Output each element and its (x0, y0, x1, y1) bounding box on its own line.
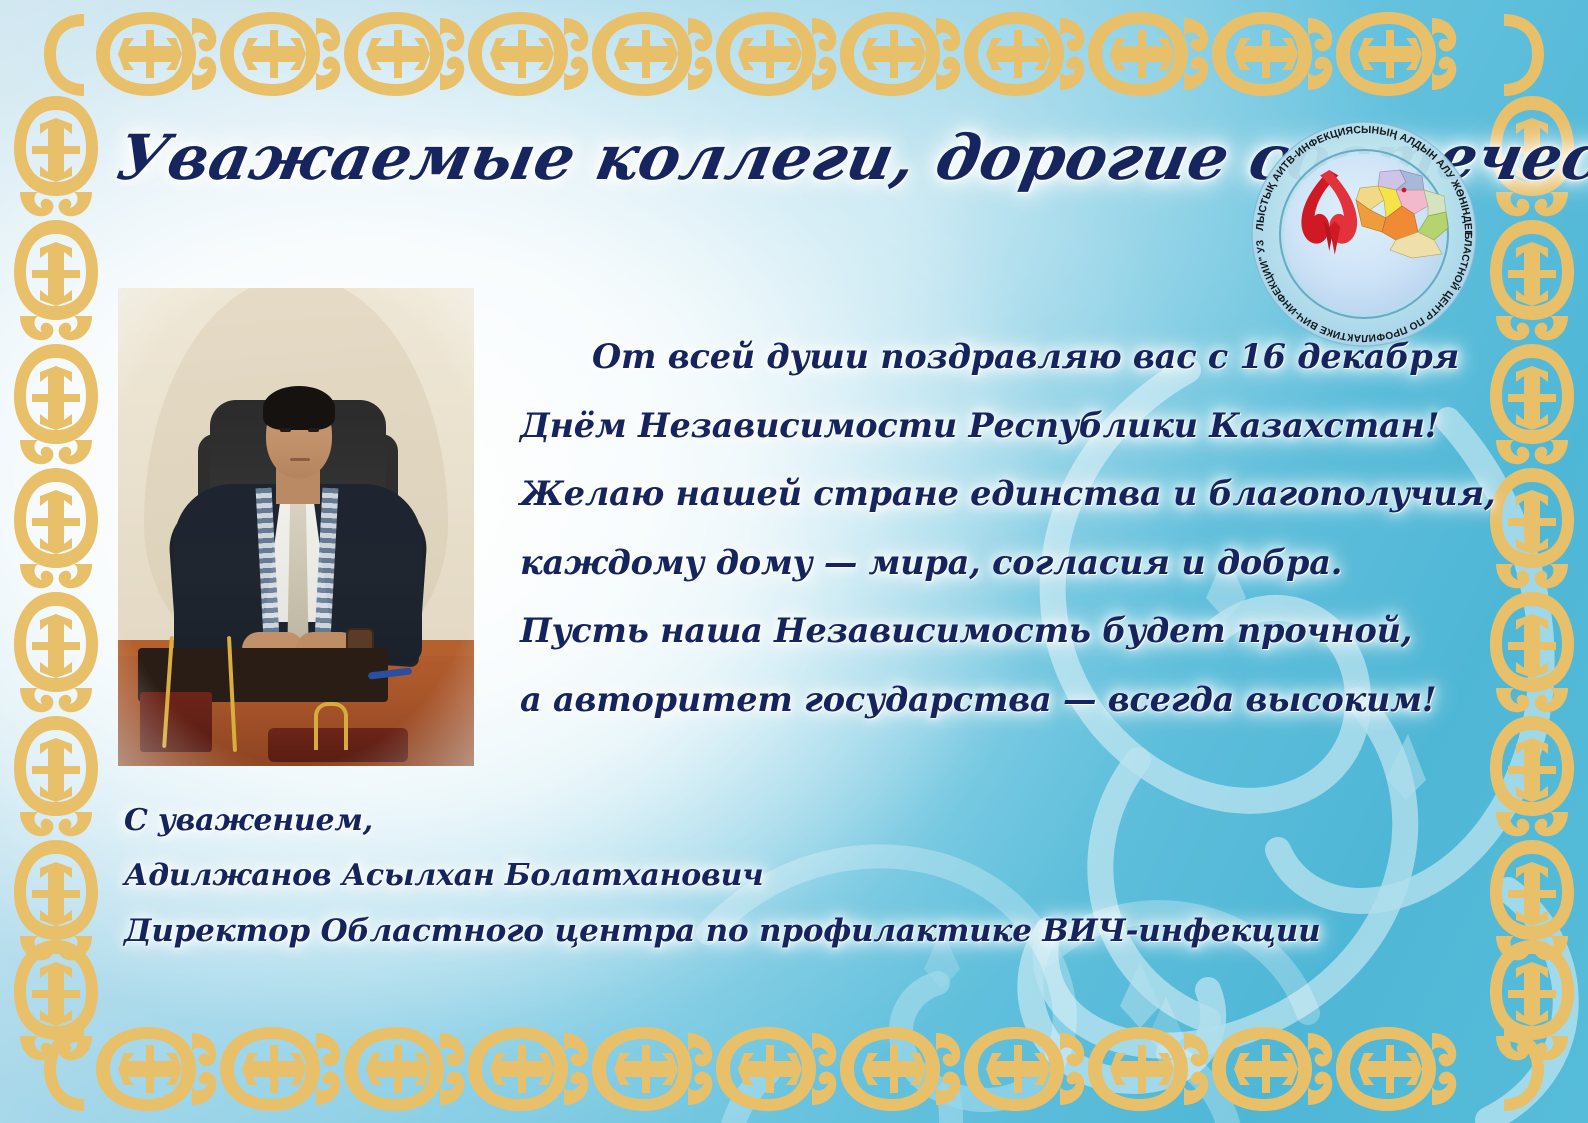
signature-closing: С уважением, (124, 806, 1304, 836)
greeting-line: Днём Независимости Республики Казахстан! (520, 409, 1350, 443)
ornament-border-top (0, 8, 1588, 100)
signature-name: Адилжанов Асылхан Болатханович (124, 861, 1304, 891)
organization-logo-seal: АБАЙ ОБЛЫСЫ ДСБ «ОБЛЫСТЫҚ АИТВ-ИНФЕКЦИЯС… (1238, 108, 1490, 360)
ornament-border-left (10, 0, 102, 1123)
greeting-line: а авторитет государства — всегда высоким… (520, 683, 1350, 717)
greeting-line: Желаю нашей стране единства и благополуч… (520, 477, 1350, 511)
ornament-border-bottom (0, 1023, 1588, 1115)
director-portrait-photo (118, 288, 474, 766)
greeting-card: Уважаемые коллеги, дорогие соотечественн… (0, 0, 1588, 1123)
greeting-body: От всей души поздравляю вас с 16 декабря… (520, 340, 1350, 716)
portrait-image (118, 288, 474, 766)
page-title: Уважаемые коллеги, дорогие соотечественн… (112, 126, 1285, 190)
signature-block: С уважением, Адилжанов Асылхан Болатхано… (124, 806, 1304, 947)
greeting-line: От всей души поздравляю вас с 16 декабря (520, 340, 1350, 374)
signature-title: Директор Областного центра по профилакти… (124, 916, 1304, 947)
greeting-line: Пусть наша Независимость будет прочной, (520, 614, 1350, 648)
greeting-line: каждому дому — мира, согласия и добра. (520, 546, 1350, 580)
